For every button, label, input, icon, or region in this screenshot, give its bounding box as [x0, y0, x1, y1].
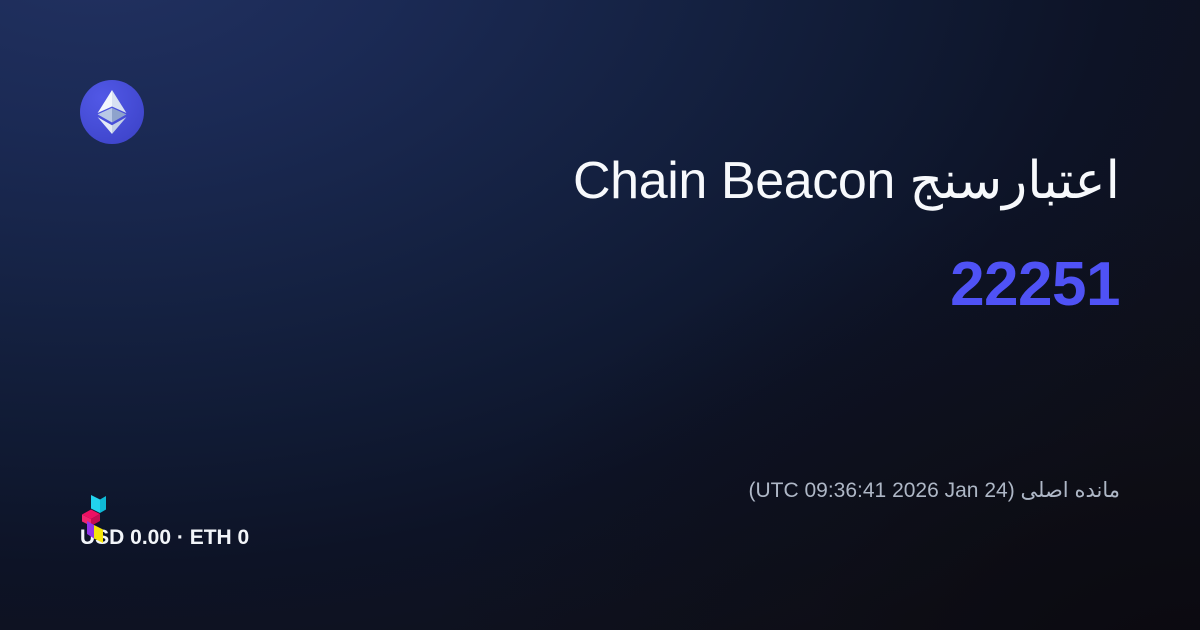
- card-content: اعتبارسنج Chain Beacon 22251 مانده اصلی …: [0, 0, 1200, 630]
- page-title: اعتبارسنج Chain Beacon: [80, 152, 1120, 212]
- ethereum-diamond-icon: [97, 90, 127, 134]
- og-preview-card: اعتبارسنج Chain Beacon 22251 مانده اصلی …: [0, 0, 1200, 630]
- isometric-blocks-logo-icon: [80, 494, 114, 544]
- balance-timestamp-line: مانده اصلی (UTC 09:36:41 2026 Jan 24): [80, 475, 1120, 507]
- balance-amounts: USD 0.00 · ETH 0: [80, 523, 1120, 552]
- card-footer: مانده اصلی (UTC 09:36:41 2026 Jan 24) US…: [80, 475, 1120, 552]
- validator-index: 22251: [80, 252, 1120, 317]
- attribution-mark: [80, 494, 114, 544]
- brand-logo: [80, 80, 144, 144]
